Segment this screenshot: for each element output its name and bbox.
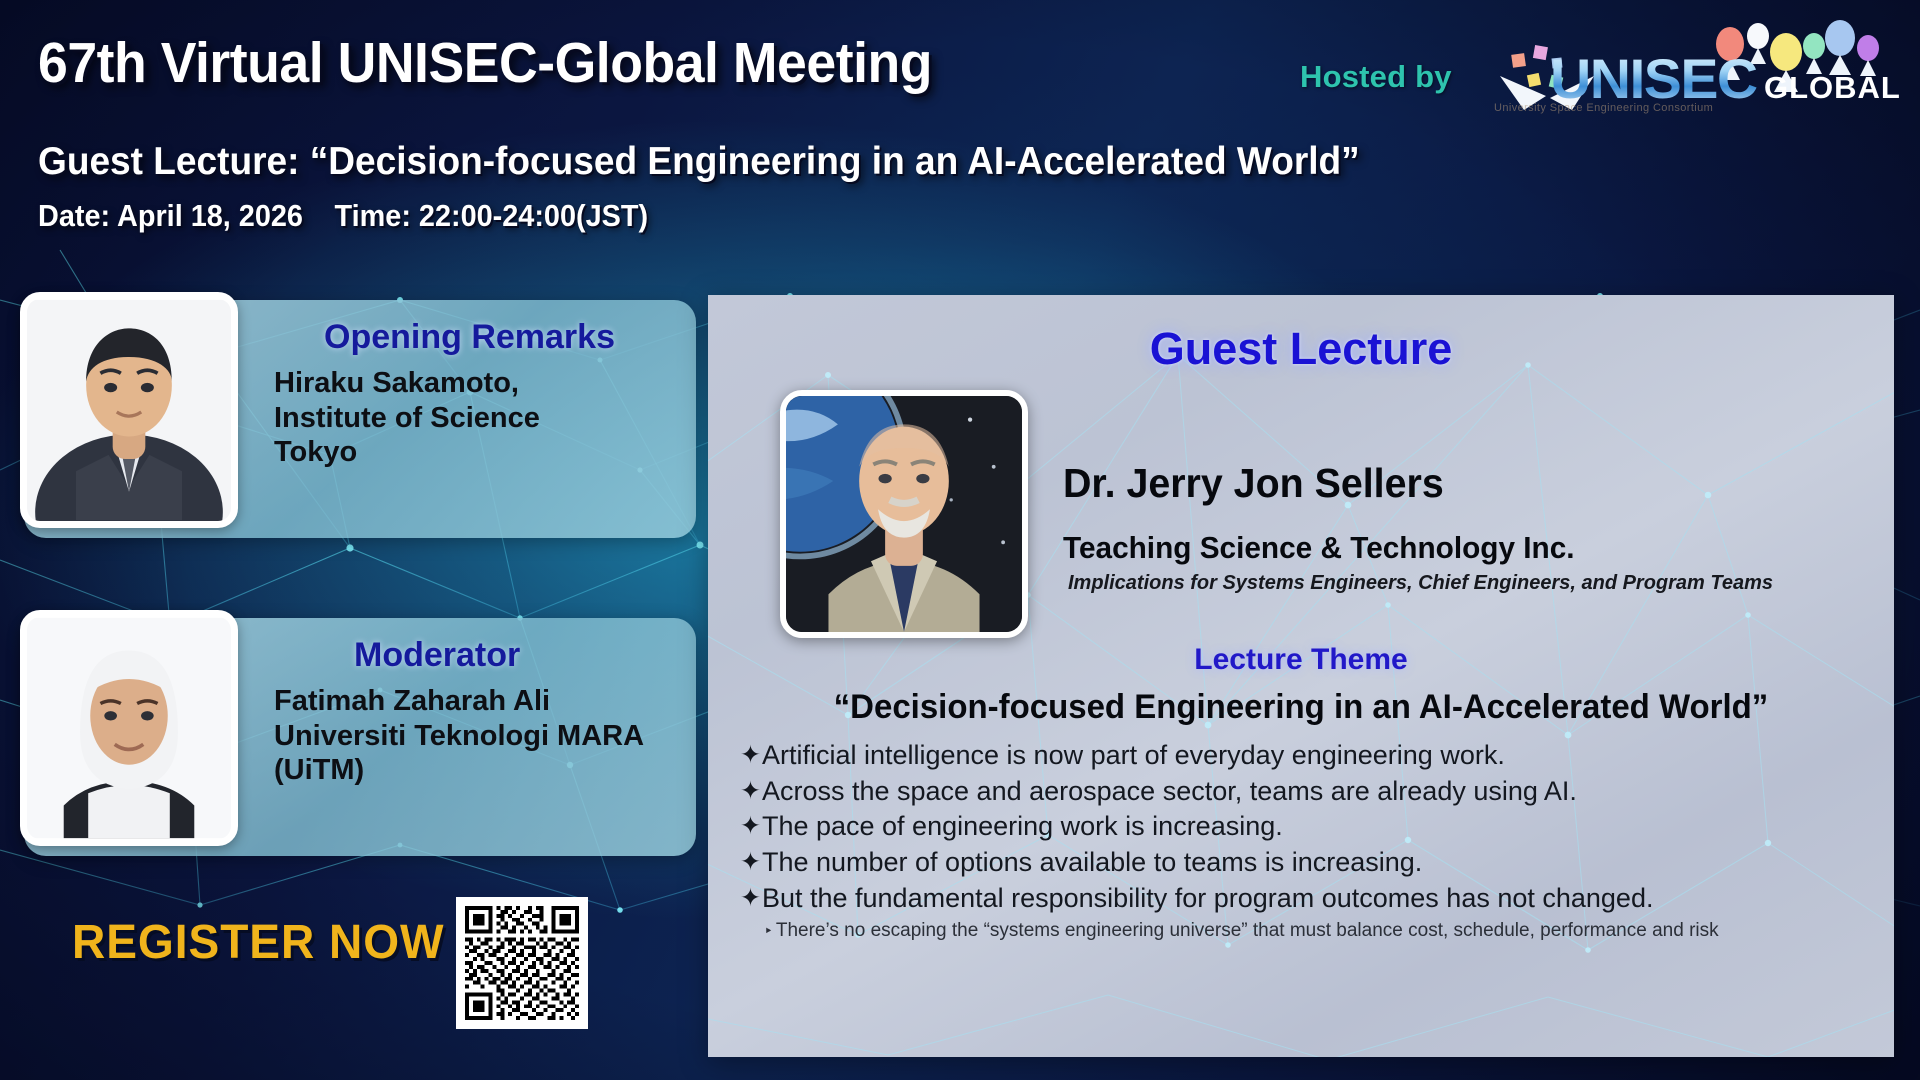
bullet-text: Artificial intelligence is now part of e… (762, 740, 1880, 772)
moderator-name: Fatimah Zaharah Ali (274, 684, 694, 719)
sub-list-item: ‣ There’s no escaping the “systems engin… (764, 919, 1880, 943)
bullet-text: But the fundamental responsibility for p… (762, 883, 1880, 915)
date-time-line: Date: April 18, 2026Time: 22:00-24:00(JS… (38, 198, 648, 234)
time-label: Time: 22:00-24:00(JST) (335, 198, 649, 233)
unisec-global-logo: UNISEC GLOBAL University Space Engineeri… (1494, 18, 1894, 118)
poster-stage: 67th Virtual UNISEC-Global Meeting Guest… (0, 0, 1920, 1080)
avatar-jerry-jon-sellers (780, 390, 1028, 638)
speaker-portrait-icon (786, 396, 1022, 632)
moderator-affiliation-2: (UiTM) (274, 753, 694, 788)
moderator-card: Moderator Fatimah Zaharah Ali Universiti… (24, 618, 696, 856)
moderator-role: Moderator (354, 636, 520, 675)
diamond-bullet-icon: ✦ (740, 740, 762, 770)
speaker-name: Dr. Jerry Jon Sellers (1063, 460, 1444, 507)
date-label: Date: April 18, 2026 (38, 198, 303, 233)
bullet-text: The number of options available to teams… (762, 847, 1880, 879)
portrait-photo-icon (27, 299, 231, 521)
moderator-person: Fatimah Zaharah Ali Universiti Teknologi… (274, 684, 694, 788)
list-item: ✦ Artificial intelligence is now part of… (740, 740, 1880, 772)
diamond-bullet-icon: ✦ (740, 847, 762, 877)
guest-lecture-panel: Guest Lecture (708, 295, 1894, 1057)
portrait-photo-icon (27, 617, 231, 839)
logo-suffix: GLOBAL (1764, 70, 1901, 106)
lecture-theme-label: Lecture Theme (708, 643, 1894, 677)
opening-remarks-affiliation-1: Institute of Science (274, 401, 674, 436)
avatar-hiraku-sakamoto (20, 292, 238, 528)
speaker-tagline: Implications for Systems Engineers, Chie… (1068, 572, 1773, 595)
guest-lecture-heading: Guest Lecture (708, 323, 1894, 375)
diamond-bullet-icon: ✦ (740, 883, 762, 913)
lecture-subtitle: Guest Lecture: “Decision-focused Enginee… (38, 140, 1360, 184)
opening-remarks-person: Hiraku Sakamoto, Institute of Science To… (274, 366, 674, 470)
diamond-bullet-icon: ✦ (740, 776, 762, 806)
qr-code-icon (465, 906, 579, 1020)
logo-tagline: University Space Engineering Consortium (1494, 102, 1713, 114)
list-item: ✦ But the fundamental responsibility for… (740, 883, 1880, 915)
poster-header: 67th Virtual UNISEC-Global Meeting Guest… (0, 0, 1920, 268)
hosted-by-label: Hosted by (1300, 59, 1452, 95)
sub-bullet-text: There’s no escaping the “systems enginee… (776, 919, 1736, 943)
registration-qr-code[interactable] (456, 897, 588, 1029)
list-item: ✦ The number of options available to tea… (740, 847, 1880, 879)
triangle-bullet-icon: ‣ (764, 919, 776, 941)
list-item: ✦ The pace of engineering work is increa… (740, 811, 1880, 843)
page-title: 67th Virtual UNISEC-Global Meeting (38, 30, 932, 96)
speaker-organization: Teaching Science & Technology Inc. (1063, 530, 1575, 566)
opening-remarks-role: Opening Remarks (324, 318, 615, 357)
register-now-button[interactable]: REGISTER NOW (72, 915, 444, 970)
opening-remarks-card: Opening Remarks Hiraku Sakamoto, Institu… (24, 300, 696, 538)
moderator-affiliation-1: Universiti Teknologi MARA (274, 719, 694, 754)
avatar-fatimah-zaharah-ali (20, 610, 238, 846)
opening-remarks-affiliation-2: Tokyo (274, 435, 674, 470)
bullet-text: Across the space and aerospace sector, t… (762, 776, 1880, 808)
lecture-bullet-list: ✦ Artificial intelligence is now part of… (740, 740, 1880, 943)
lecture-theme-title: “Decision-focused Engineering in an AI-A… (726, 688, 1876, 727)
list-item: ✦ Across the space and aerospace sector,… (740, 776, 1880, 808)
bullet-text: The pace of engineering work is increasi… (762, 811, 1880, 843)
diamond-bullet-icon: ✦ (740, 811, 762, 841)
opening-remarks-name: Hiraku Sakamoto, (274, 366, 674, 401)
